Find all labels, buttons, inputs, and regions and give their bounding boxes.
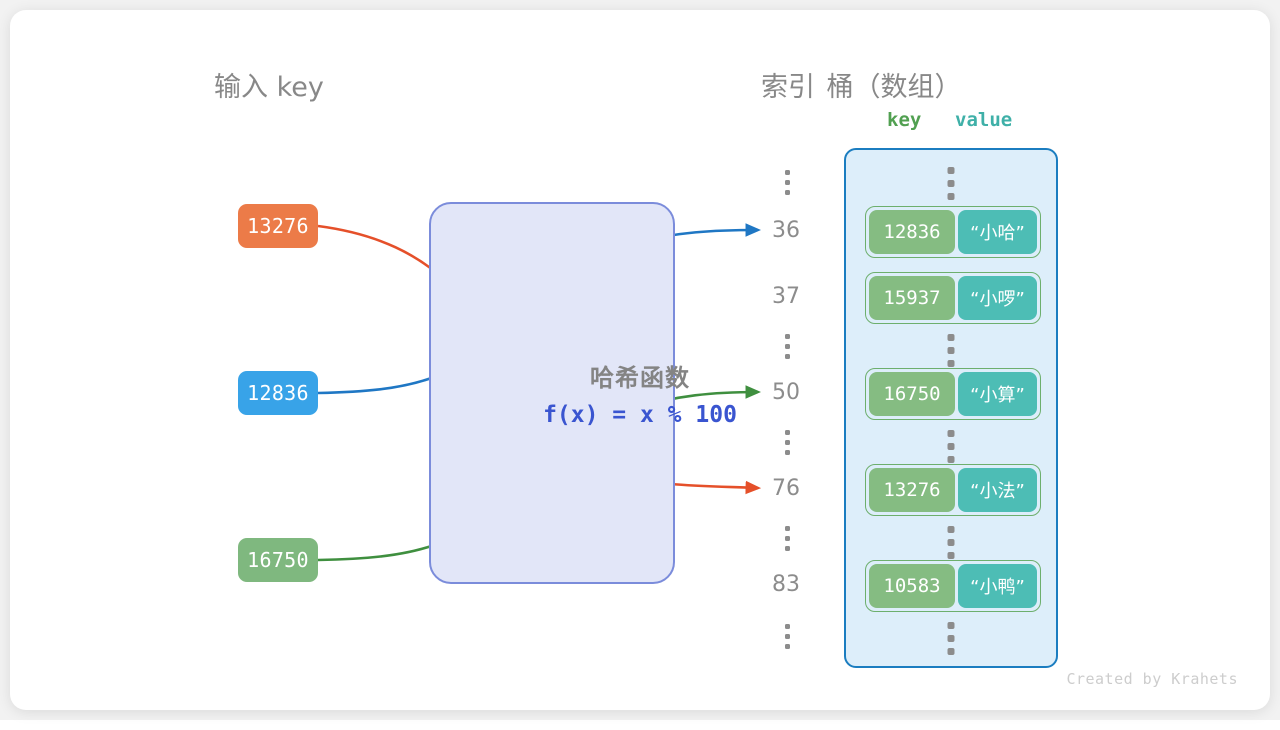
- entry-value: “小啰”: [958, 276, 1037, 320]
- entry-key: 15937: [869, 276, 955, 320]
- bucket-ellipsis: [948, 334, 955, 367]
- index-label-37: 37: [772, 284, 822, 309]
- dot: [785, 644, 790, 649]
- bucket-entry[interactable]: 10583 “小鸭”: [865, 560, 1041, 612]
- dot: [948, 635, 955, 642]
- dot: [948, 167, 955, 174]
- dot: [948, 193, 955, 200]
- dot: [948, 648, 955, 655]
- dot: [785, 354, 790, 359]
- bucket-ellipsis: [948, 622, 955, 655]
- bucket-entry[interactable]: 13276 “小法”: [865, 464, 1041, 516]
- dot: [948, 360, 955, 367]
- bucket-ellipsis: [948, 167, 955, 200]
- diagram-card: 输入 key 索引 桶（数组） key value: [10, 10, 1270, 710]
- dot: [948, 622, 955, 629]
- index-label-76: 76: [772, 476, 822, 501]
- column-title-input-key: 输入 key: [214, 65, 324, 104]
- bucket-ellipsis: [948, 526, 955, 559]
- dot: [785, 450, 790, 455]
- dot: [785, 344, 790, 349]
- dot: [785, 634, 790, 639]
- entry-value: “小哈”: [958, 210, 1037, 254]
- dot: [785, 170, 790, 175]
- bucket-entry[interactable]: 15937 “小啰”: [865, 272, 1041, 324]
- dot: [948, 539, 955, 546]
- dot: [948, 456, 955, 463]
- dot: [948, 180, 955, 187]
- dot: [785, 334, 790, 339]
- bucket-ellipsis: [948, 430, 955, 463]
- bucket-entry[interactable]: 12836 “小哈”: [865, 206, 1041, 258]
- input-key-chip[interactable]: 16750: [238, 538, 318, 582]
- column-title-index: 索引: [761, 65, 815, 104]
- dot: [785, 546, 790, 551]
- entry-value: “小法”: [958, 468, 1037, 512]
- index-label-36: 36: [772, 218, 822, 243]
- column-title-bucket: 桶（数组）: [827, 65, 962, 104]
- diagram-canvas: 输入 key 索引 桶（数组） key value: [0, 0, 1280, 720]
- hash-function-formula: f(x) = x % 100: [10, 402, 1270, 428]
- dot: [785, 430, 790, 435]
- dot: [785, 180, 790, 185]
- entry-key: 16750: [869, 372, 955, 416]
- entry-key: 10583: [869, 564, 955, 608]
- entry-value: “小鸭”: [958, 564, 1037, 608]
- index-ellipsis: [785, 526, 791, 551]
- credit-label: Created by Krahets: [1066, 670, 1238, 688]
- index-ellipsis: [785, 624, 791, 649]
- bucket-array: 12836 “小哈” 15937 “小啰” 16750 “小算”: [844, 148, 1058, 668]
- dot: [785, 190, 790, 195]
- index-label-83: 83: [772, 572, 822, 597]
- entry-key: 13276: [869, 468, 955, 512]
- dot: [785, 624, 790, 629]
- dot: [948, 334, 955, 341]
- entry-key: 12836: [869, 210, 955, 254]
- dot: [948, 526, 955, 533]
- dot: [948, 347, 955, 354]
- index-ellipsis: [785, 170, 791, 195]
- hash-function-box: [429, 202, 675, 584]
- dot: [785, 526, 790, 531]
- index-label-50: 50: [772, 380, 822, 405]
- bucket-key-header: key: [887, 109, 921, 131]
- dot: [948, 430, 955, 437]
- index-ellipsis: [785, 430, 791, 455]
- dot: [785, 440, 790, 445]
- dot: [948, 552, 955, 559]
- input-key-chip[interactable]: 13276: [238, 204, 318, 248]
- bucket-value-header: value: [955, 109, 1012, 131]
- hash-function-title: 哈希函数: [10, 358, 1270, 393]
- dot: [785, 536, 790, 541]
- dot: [948, 443, 955, 450]
- bucket-entry[interactable]: 16750 “小算”: [865, 368, 1041, 420]
- index-ellipsis: [785, 334, 791, 359]
- entry-value: “小算”: [958, 372, 1037, 416]
